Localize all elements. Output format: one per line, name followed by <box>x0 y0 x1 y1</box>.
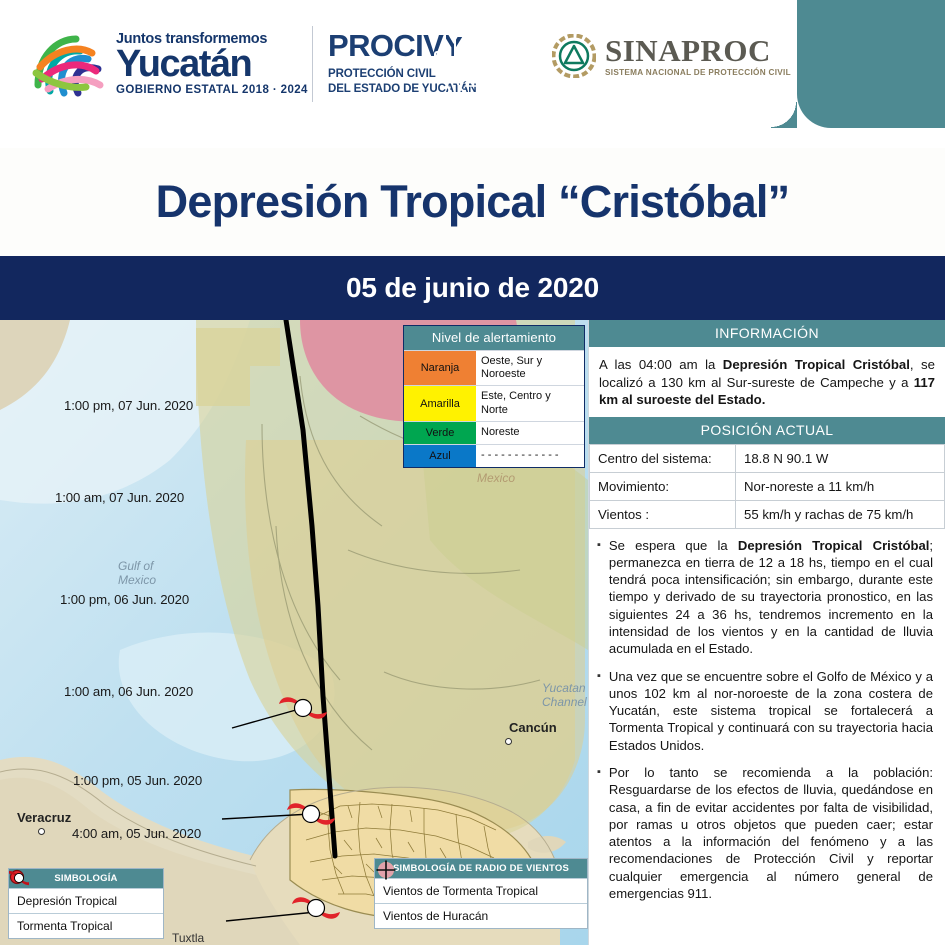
alert-level-azul: Azul <box>404 445 476 467</box>
page-title: Depresión Tropical “Cristóbal” <box>156 176 790 228</box>
informacion-storm-name: Depresión Tropical Cristóbal <box>723 357 910 372</box>
sinaproc-subtitle: SISTEMA NACIONAL DE PROTECCIÓN CIVIL <box>605 69 791 77</box>
track-label-4: 1:00 pm, 05 Jun. 2020 <box>73 773 202 788</box>
alert-row-amarilla: Amarilla Este, Centro y Norte <box>404 385 584 420</box>
legend-simbologia: SIMBOLOGÍA Depresión Tropical Tormenta T… <box>8 868 164 939</box>
table-row: Vientos : 55 km/h y rachas de 75 km/h <box>590 500 945 528</box>
alert-level-verde: Verde <box>404 422 476 444</box>
alert-row-verde: Verde Noreste <box>404 421 584 444</box>
logo-line-2: Yucatán <box>116 45 308 83</box>
track-label-3: 1:00 am, 06 Jun. 2020 <box>64 684 193 699</box>
alert-row-naranja: Naranja Oeste, Sur y Noroeste <box>404 350 584 385</box>
bullet-text-3: Por lo tanto se recomienda a la població… <box>609 764 933 902</box>
table-row: Centro del sistema: 18.8 N 90.1 W <box>590 444 945 472</box>
row-value-centro-del-sistema: 18.8 N 90.1 W <box>736 444 945 472</box>
yucatan-rings-icon <box>30 27 108 101</box>
bullet-text-2: Una vez que se encuentre sobre el Golfo … <box>609 668 933 754</box>
date-band: 05 de junio de 2020 <box>0 256 945 320</box>
legend-radio-vientos-header: SIMBOLOGÍA DE RADIO DE VIENTOS <box>375 859 587 878</box>
header: Juntos transformemos Yucatán GOBIERNO ES… <box>0 0 945 148</box>
row-key-centro-del-sistema: Centro del sistema: <box>590 444 736 472</box>
sinaproc-emblem-icon <box>552 34 596 78</box>
city-label-veracruz: Veracruz <box>17 810 71 825</box>
track-label-5: 4:00 am, 05 Jun. 2020 <box>72 826 201 841</box>
row-value-vientos: 55 km/h y rachas de 75 km/h <box>736 500 945 528</box>
header-divider <box>312 26 313 102</box>
track-label-2: 1:00 pm, 06 Jun. 2020 <box>60 592 189 607</box>
legend-row-vientos-tormenta: Vientos de Tormenta Tropical <box>375 878 587 903</box>
legend-row-vientos-huracan: Vientos de Huracán <box>375 903 587 928</box>
logo-line-3: GOBIERNO ESTATAL 2018 · 2024 <box>116 85 308 97</box>
alert-level-naranja: Naranja <box>404 351 476 385</box>
table-row: Movimiento: Nor-noreste a 11 km/h <box>590 472 945 500</box>
legend-label-depresion-tropical: Depresión Tropical <box>17 894 117 908</box>
information-panel: INFORMACIÓN A las 04:00 am la Depresión … <box>588 320 945 945</box>
city-label-tuxtla: Tuxtla <box>172 931 204 945</box>
legend-row-tormenta-tropical: Tormenta Tropical <box>9 913 163 938</box>
header-teal-panel <box>797 0 945 128</box>
recommendations-list: ▪ Se espera que la Depresión Tropical Cr… <box>589 529 945 919</box>
sinaproc-title: SINAPROC <box>605 35 791 66</box>
bullet-square-icon: ▪ <box>597 537 601 658</box>
legend-label-tormenta-tropical: Tormenta Tropical <box>17 919 112 933</box>
city-dot-veracruz <box>38 828 45 835</box>
geo-label-gulf-of-mexico: Gulf ofMexico <box>118 560 156 588</box>
informacion-text: A las 04:00 am la Depresión Tropical Cri… <box>589 347 945 417</box>
bullet-text-1: Se espera que la Depresión Tropical Cris… <box>609 537 933 658</box>
legend-label-vientos-tormenta: Vientos de Tormenta Tropical <box>383 884 538 898</box>
infographic-page: Juntos transformemos Yucatán GOBIERNO ES… <box>0 0 945 945</box>
list-item: ▪ Una vez que se encuentre sobre el Golf… <box>597 668 933 754</box>
row-key-movimiento: Movimiento: <box>590 472 736 500</box>
legend-label-vientos-huracan: Vientos de Huracán <box>383 909 488 923</box>
alert-level-header: Nivel de alertamiento <box>404 326 584 350</box>
city-label-cancun: Cancún <box>509 720 557 735</box>
posicion-actual-header: POSICIÓN ACTUAL <box>589 417 945 444</box>
shield-label: YUCATAN <box>442 113 502 123</box>
track-label-1: 1:00 am, 07 Jun. 2020 <box>55 490 184 505</box>
geo-label-yucatan-channel: YucatanChannel <box>542 682 587 710</box>
yucatan-shield-emblem: YUCATAN <box>425 14 521 127</box>
city-dot-cancun <box>505 738 512 745</box>
posicion-actual-table: Centro del sistema: 18.8 N 90.1 W Movimi… <box>589 444 945 529</box>
alert-row-azul: Azul - - - - - - - - - - - - <box>404 444 584 467</box>
legend-simbologia-header: SIMBOLOGÍA <box>9 869 163 888</box>
alert-zones-amarilla: Este, Centro y Norte <box>476 386 584 420</box>
alert-zones-azul: - - - - - - - - - - - - <box>476 445 584 467</box>
row-key-vientos: Vientos : <box>590 500 736 528</box>
bullet-1-c: ; permanezca en tierra de 12 a 18 hs, ti… <box>609 538 933 657</box>
list-item: ▪ Por lo tanto se recomienda a la poblac… <box>597 764 933 902</box>
row-value-movimiento: Nor-noreste a 11 km/h <box>736 472 945 500</box>
bullet-square-icon: ▪ <box>597 668 601 754</box>
list-item: ▪ Se espera que la Depresión Tropical Cr… <box>597 537 933 658</box>
alert-level-amarilla: Amarilla <box>404 386 476 420</box>
alert-zones-naranja: Oeste, Sur y Noroeste <box>476 351 584 385</box>
informacion-part-a: A las 04:00 am la <box>599 357 723 372</box>
track-label-0: 1:00 pm, 07 Jun. 2020 <box>64 398 193 413</box>
alert-level-table: Nivel de alertamiento Naranja Oeste, Sur… <box>403 325 585 468</box>
bullet-1-b: Depresión Tropical Cristóbal <box>738 538 929 553</box>
bullet-1-a: Se espera que la <box>609 538 738 553</box>
sinaproc-logo: SINAPROC SISTEMA NACIONAL DE PROTECCIÓN … <box>552 34 791 78</box>
alert-zones-verde: Noreste <box>476 422 584 444</box>
title-band: Depresión Tropical “Cristóbal” <box>0 148 945 256</box>
legend-row-depresion-tropical: Depresión Tropical <box>9 888 163 913</box>
geo-label-mexico: Mexico <box>477 472 515 486</box>
date-text: 05 de junio de 2020 <box>346 272 599 304</box>
bullet-square-icon: ▪ <box>597 764 601 902</box>
legend-radio-vientos: SIMBOLOGÍA DE RADIO DE VIENTOS Vientos d… <box>374 858 588 929</box>
informacion-header: INFORMACIÓN <box>589 320 945 347</box>
yucatan-government-logo: Juntos transformemos Yucatán GOBIERNO ES… <box>30 24 320 104</box>
forecast-map[interactable]: Gulf ofMexico Mexico YucatanChannel Canc… <box>0 320 588 945</box>
